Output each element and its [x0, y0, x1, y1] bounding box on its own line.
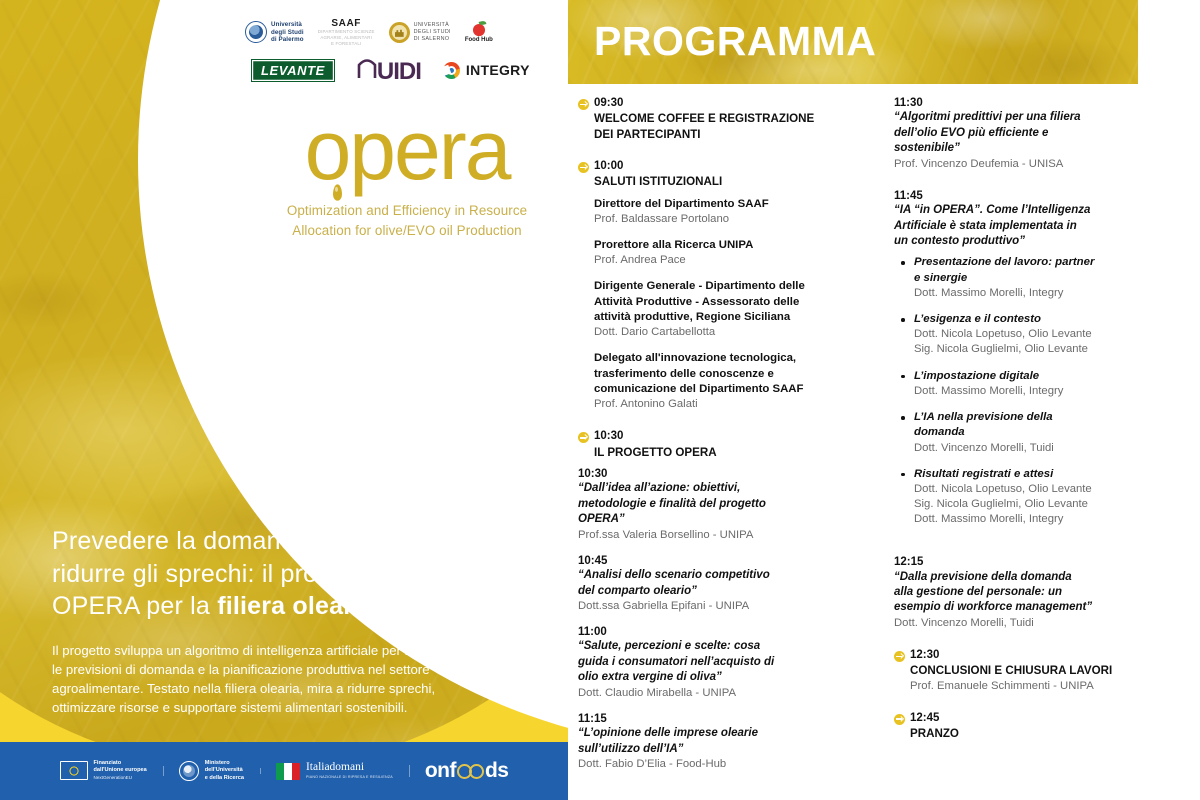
opera-wordmark-text: opera: [305, 103, 510, 197]
unipa-line1: Università: [271, 21, 302, 28]
agenda-speaker: Dott. Fabio D’Elia - Food-Hub: [578, 757, 864, 772]
agenda-time-row: 10:30: [578, 429, 864, 443]
project-description: Il progetto sviluppa un algoritmo di int…: [52, 641, 472, 718]
saaf-sub2: AGRARIE, ALIMENTARI: [320, 35, 372, 40]
poster-root: Università degli Studi di Palermo SAAF D…: [0, 0, 1200, 800]
agenda-item: 10:30IL PROGETTO OPERA10:30“Dall’idea al…: [578, 429, 864, 787]
agenda-speaker: Dott. Vincenzo Morelli, Tuidi: [894, 616, 1184, 631]
eu-line2: dall'Unione europea: [94, 767, 147, 773]
agenda-speaker: Prof. Antonino Galati: [594, 397, 864, 412]
agenda-bullet-item: L’IA nella previsione delladomandaDott. …: [894, 410, 1184, 456]
saaf-subtitle: DIPARTIMENTO SCIENZE AGRARIE, ALIMENTARI…: [318, 29, 375, 47]
spacer: [894, 172, 1184, 187]
opera-tagline-line1: Optimization and Efficiency in Resource: [287, 203, 527, 218]
agenda-speaker: Dott. Nicola Lopetuso, Olio Levante: [914, 327, 1184, 342]
italiadomani-text: Italiadomani PIANO NAZIONALE DI RIPRESA …: [306, 762, 393, 779]
italiadomani-sub: PIANO NAZIONALE DI RIPRESA E RESILIENZA: [306, 776, 393, 780]
onfoods-text: onf ds: [425, 759, 509, 783]
spacer: [578, 614, 864, 625]
ministero-line1: Ministero: [205, 760, 230, 766]
agenda-bullet-item: Risultati registrati e attesiDott. Nicol…: [894, 467, 1184, 528]
agenda-time-row: 10:00: [578, 159, 864, 173]
spacer: [578, 543, 864, 554]
unipa-line3: di Palermo: [271, 36, 304, 43]
agenda-talk-title: “Algoritmi predittivi per una filieradel…: [894, 110, 1184, 156]
spacer: [578, 190, 864, 197]
spacer: [894, 694, 1184, 709]
agenda-speaker: Prof. Emanuele Schimmenti - UNIPA: [910, 679, 1184, 694]
agenda-talk-title: “L’opinione delle imprese oleariesull’ut…: [578, 726, 864, 757]
agenda-time: 09:30: [594, 96, 623, 110]
agenda-speaker: Sig. Nicola Guglielmi, Olio Levante: [914, 342, 1184, 357]
apple-icon: [472, 21, 486, 36]
partner-logos-row-2: LEVANTE UIDI INTEGRY: [245, 57, 545, 84]
spacer: [578, 701, 864, 712]
agenda-speaker: Dott. Vincenzo Morelli, Tuidi: [914, 441, 1184, 456]
agenda-speaker: Dott. Massimo Morelli, Integry: [914, 512, 1184, 527]
spacer: [578, 268, 864, 279]
agenda-speaker: Dott. Massimo Morelli, Integry: [914, 384, 1184, 399]
saaf-logo: SAAF DIPARTIMENTO SCIENZE AGRARIE, ALIME…: [318, 18, 375, 47]
agenda-bullet-title: Risultati registrati e attesi: [914, 467, 1184, 482]
agenda-time-row: 09:30: [578, 96, 864, 110]
tuidi-text: UIDI: [377, 60, 421, 84]
agenda-speaker: Sig. Nicola Guglielmi, Olio Levante: [914, 497, 1184, 512]
eu-funding-logo: Finanziato dall'Unione europea NextGener…: [44, 760, 163, 782]
eu-funding-text: Finanziato dall'Unione europea NextGener…: [94, 760, 147, 782]
spacer: [578, 412, 864, 427]
unipa-line2: degli Studi: [271, 29, 304, 36]
agenda-item: 11:45“IA “in OPERA”. Come l’Intelligenza…: [894, 189, 1184, 554]
agenda-bullet-title: L’esigenza e il contesto: [914, 312, 1184, 327]
saaf-title: SAAF: [318, 18, 375, 29]
agenda-talk-time: 11:00: [578, 625, 864, 639]
spacer: [578, 772, 864, 787]
oil-drop-icon: [333, 184, 342, 200]
partner-logos: Università degli Studi di Palermo SAAF D…: [245, 18, 545, 84]
headline-line3-prefix: OPERA per la: [52, 592, 217, 620]
ministero-logo: Ministero dell'Università e della Ricerc…: [163, 760, 260, 782]
levante-logo: LEVANTE: [251, 59, 335, 82]
page-title: Prevedere la domanda per ridurre gli spr…: [52, 525, 472, 623]
agenda-time: 11:30: [894, 96, 1184, 110]
agenda-item: 12:45PRANZO: [894, 711, 1184, 757]
programma-banner: PROGRAMMA: [568, 0, 1138, 84]
agenda-item: 12:30CONCLUSIONI E CHIUSURA LAVORIProf. …: [894, 648, 1184, 709]
agenda-speaker: Prof. Vincenzo Deufemia - UNISA: [894, 157, 1184, 172]
agenda-talk-time: 11:15: [578, 712, 864, 726]
agenda-talk-title: “Salute, percezioni e scelte: cosaguida …: [578, 639, 864, 685]
agenda-speaker: Dott. Massimo Morelli, Integry: [914, 286, 1184, 301]
unipa-seal-icon: [245, 21, 267, 43]
agenda-role: Dirigente Generale - Dipartimento delleA…: [594, 279, 864, 325]
headline-line1: Prevedere la domanda per: [52, 527, 353, 555]
agenda-item: 10:00SALUTI ISTITUZIONALIDirettore del D…: [578, 159, 864, 427]
agenda-talk-title: “IA “in OPERA”. Come l’IntelligenzaArtif…: [894, 203, 1184, 249]
agenda-speaker: Dott. Claudio Mirabella - UNIPA: [578, 686, 864, 701]
agenda-time: 12:30: [910, 648, 939, 662]
program-column-2: 11:30“Algoritmi predittivi per una filie…: [870, 96, 1190, 789]
agenda-talk-title: “Analisi dello scenario competitivodel c…: [578, 568, 864, 599]
agenda-role: Delegato all'innovazione tecnologica,tra…: [594, 351, 864, 397]
italy-flag-icon: [276, 763, 300, 780]
unisa-seal-icon: [389, 22, 410, 43]
spacer: [578, 340, 864, 351]
spacer: [578, 142, 864, 157]
italiadomani-logo: Italiadomani PIANO NAZIONALE DI RIPRESA …: [260, 762, 409, 779]
headline-block: Prevedere la domanda per ridurre gli spr…: [52, 525, 472, 717]
unipa-logo: Università degli Studi di Palermo: [245, 21, 304, 43]
program-columns: 09:30WELCOME COFFEE E REGISTRAZIONEDEI P…: [568, 96, 1200, 789]
saaf-sub1: DIPARTIMENTO SCIENZE: [318, 29, 375, 34]
programma-title: PROGRAMMA: [594, 18, 876, 65]
tuidi-arch-icon: [357, 57, 377, 79]
agenda-heading: CONCLUSIONI E CHIUSURA LAVORI: [910, 663, 1184, 678]
agenda-speaker: Prof. Baldassare Portolano: [594, 212, 864, 227]
agenda-speaker: Prof.ssa Valeria Borsellino - UNIPA: [578, 528, 864, 543]
agenda-bullet-list: Presentazione del lavoro: partnere siner…: [894, 255, 1184, 527]
agenda-time: 12:45: [910, 711, 939, 725]
agenda-heading: WELCOME COFFEE E REGISTRAZIONEDEI PARTEC…: [594, 111, 864, 142]
right-panel: PROGRAMMA 09:30WELCOME COFFEE E REGISTRA…: [568, 0, 1200, 800]
eu-flag-icon: [60, 761, 88, 780]
opera-project-logo: opera Optimization and Efficiency in Res…: [262, 112, 552, 240]
onfoods-title-b: ds: [485, 759, 509, 783]
onfoods-title-a: onf: [425, 759, 456, 783]
ministero-line3: e della Ricerca: [205, 775, 244, 781]
agenda-time: 11:45: [894, 189, 1184, 203]
agenda-talk-title: “Dalla previsione della domandaalla gest…: [894, 570, 1184, 616]
headline-line2: ridurre gli sprechi: il progetto: [52, 560, 374, 588]
agenda-bullet-item: L’esigenza e il contestoDott. Nicola Lop…: [894, 312, 1184, 358]
unipa-logo-text: Università degli Studi di Palermo: [271, 21, 304, 43]
agenda-speaker: Dott. Nicola Lopetuso, Olio Levante: [914, 482, 1184, 497]
arrow-bullet-icon: [578, 99, 589, 110]
agenda-time-row: 12:45: [894, 711, 1184, 725]
unisa-logo: UNIVERSITÀ DEGLI STUDI DI SALERNO: [389, 22, 451, 43]
agenda-item: 09:30WELCOME COFFEE E REGISTRAZIONEDEI P…: [578, 96, 864, 157]
agenda-item: 12:15“Dalla previsione della domandaalla…: [894, 555, 1184, 646]
agenda-speaker: Dott. Dario Cartabellotta: [594, 325, 864, 340]
saaf-sub3: E FORESTALI: [331, 41, 361, 46]
spacer: [894, 631, 1184, 646]
agenda-time: 10:00: [594, 159, 623, 173]
agenda-heading: PRANZO: [910, 726, 1184, 741]
spacer: [894, 538, 1184, 553]
unisa-line2: DEGLI STUDI: [414, 29, 451, 35]
arrow-bullet-icon: [894, 651, 905, 662]
integry-text: INTEGRY: [466, 62, 530, 78]
headline-line3-bold: filiera olearia: [217, 592, 374, 620]
agenda-heading: IL PROGETTO OPERA: [594, 445, 864, 460]
program-column-1: 09:30WELCOME COFFEE E REGISTRAZIONEDEI P…: [568, 96, 870, 789]
ministero-line2: dell'Università: [205, 767, 243, 773]
italiadomani-title: Italiadomani: [306, 761, 364, 773]
agenda-role: Prorettore alla Ricerca UNIPA: [594, 238, 864, 253]
arrow-bullet-icon: [578, 432, 589, 443]
agenda-heading: SALUTI ISTITUZIONALI: [594, 174, 864, 189]
spacer: [578, 227, 864, 238]
unisa-logo-text: UNIVERSITÀ DEGLI STUDI DI SALERNO: [414, 22, 451, 43]
agenda-speaker: Prof. Andrea Pace: [594, 253, 864, 268]
spacer: [894, 741, 1184, 756]
agenda-role: Direttore del Dipartimento SAAF: [594, 197, 864, 212]
food-hub-logo: Food Hub: [465, 21, 493, 43]
opera-tagline: Optimization and Efficiency in Resource …: [262, 201, 552, 240]
agenda-time: 10:30: [594, 429, 623, 443]
food-hub-title: Food Hub: [465, 37, 493, 43]
agenda-bullet-item: Presentazione del lavoro: partnere siner…: [894, 255, 1184, 301]
agenda-time: 12:15: [894, 555, 1184, 569]
agenda-item: 11:30“Algoritmi predittivi per una filie…: [894, 96, 1184, 187]
onfoods-infinity-icon: [457, 764, 484, 779]
agenda-talk-time: 10:45: [578, 554, 864, 568]
eu-line3: NextGenerationEU: [94, 775, 133, 780]
onfoods-logo: onf ds: [409, 759, 525, 783]
agenda-bullet-item: L’impostazione digitaleDott. Massimo Mor…: [894, 369, 1184, 399]
agenda-speaker: Dott.ssa Gabriella Epifani - UNIPA: [578, 599, 864, 614]
spacer: [578, 460, 864, 467]
opera-wordmark: opera: [305, 112, 510, 189]
unisa-line3: DI SALERNO: [414, 36, 450, 42]
ministero-text: Ministero dell'Università e della Ricerc…: [205, 760, 244, 782]
funding-footer: Finanziato dall'Unione europea NextGener…: [0, 742, 568, 800]
eu-line1: Finanziato: [94, 760, 122, 766]
agenda-bullet-title: L’impostazione digitale: [914, 369, 1184, 384]
integry-ring-icon: [443, 62, 460, 79]
agenda-talk-title: “Dall’idea all’azione: obiettivi,metodol…: [578, 481, 864, 527]
opera-tagline-line2: Allocation for olive/EVO oil Production: [292, 223, 521, 238]
integry-logo: INTEGRY: [443, 62, 530, 79]
unisa-line1: UNIVERSITÀ: [414, 22, 449, 28]
arrow-bullet-icon: [578, 162, 589, 173]
ministero-seal-icon: [179, 761, 199, 781]
agenda-time-row: 12:30: [894, 648, 1184, 662]
arrow-bullet-icon: [894, 714, 905, 725]
partner-logos-row-1: Università degli Studi di Palermo SAAF D…: [245, 18, 545, 47]
tuidi-logo: UIDI: [357, 57, 421, 84]
agenda-talk-time: 10:30: [578, 467, 864, 481]
agenda-bullet-title: Presentazione del lavoro: partnere siner…: [914, 255, 1184, 286]
agenda-bullet-title: L’IA nella previsione delladomanda: [914, 410, 1184, 441]
